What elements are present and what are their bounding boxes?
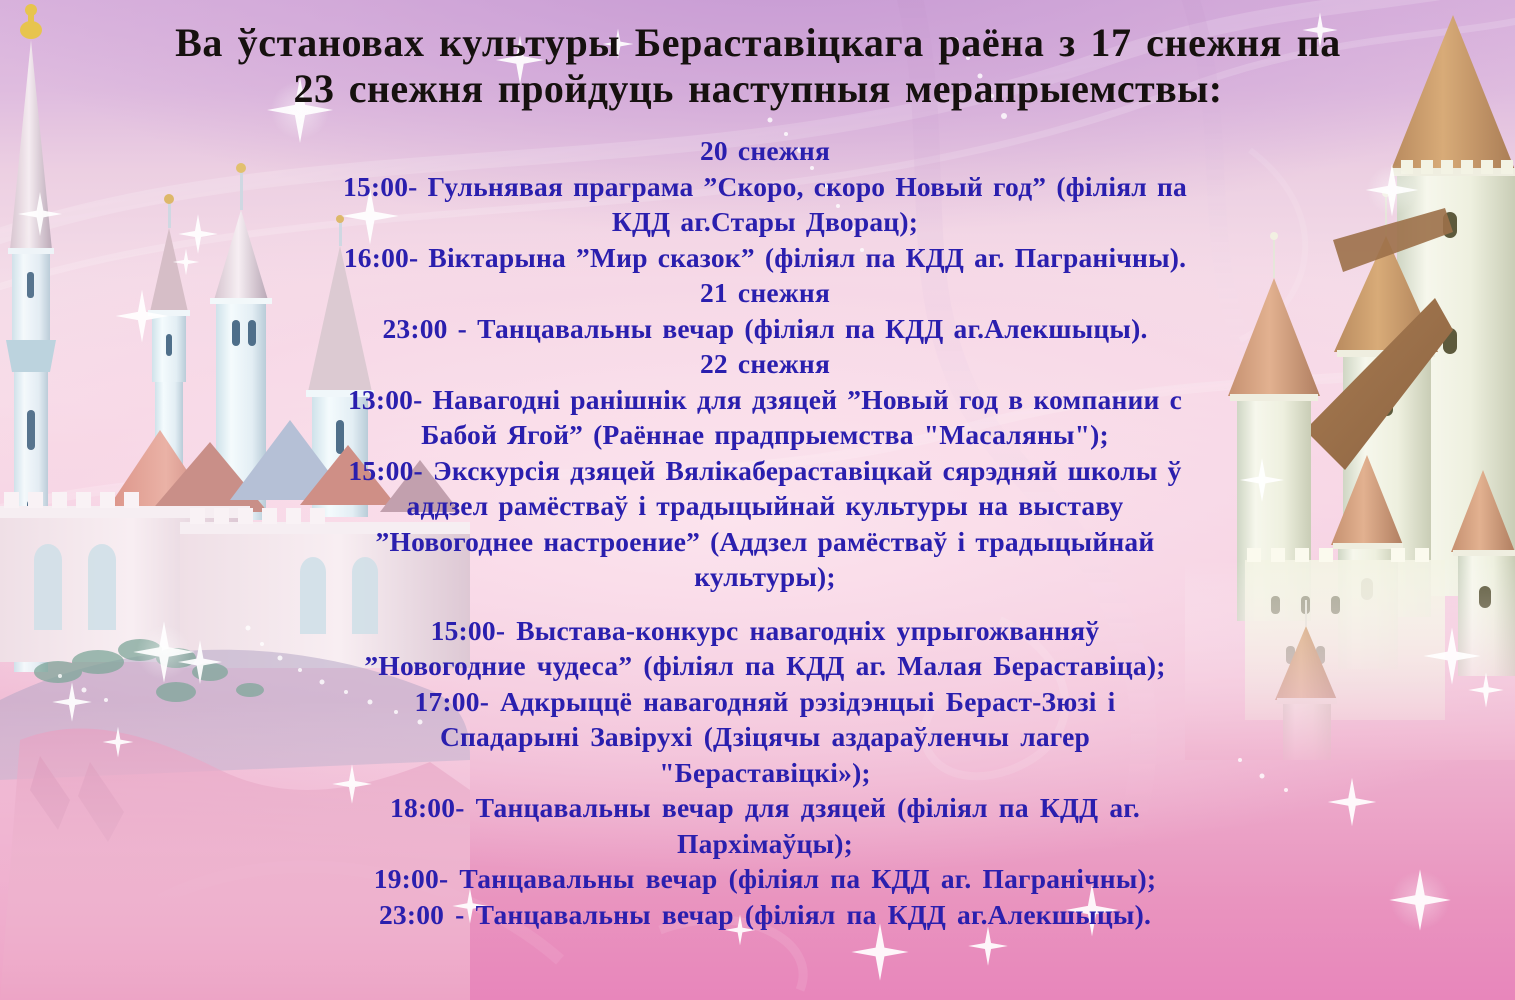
event-line: культуры); [150,559,1380,595]
title-line-2: 23 снежня пройдуць наступныя мерапрыемст… [28,66,1488,112]
schedule-date-22: 22 снежня [150,346,1380,382]
schedule-list: 20 снежня 15:00- Гульнявая праграма ”Ско… [150,133,1380,932]
event-line: Спадарыні Завірухі (Дзіцячы аздараўленчы… [150,719,1380,755]
event-line: Пархімаўцы); [150,826,1380,862]
event-line: 17:00- Адкрыццё навагодняй рэзідэнцыі Бе… [150,684,1380,720]
title-line-1: Ва ўстановах культуры Бераставіцкага раё… [28,20,1488,66]
event-line: "Бераставіцкі»); [150,755,1380,791]
schedule-date-20: 20 снежня [150,133,1380,169]
event-line: 15:00- Выстава-конкурс навагодніх упрыго… [150,613,1380,649]
schedule-date-21: 21 снежня [150,275,1380,311]
event-line: ”Новогодние чудеса” (філіял па КДД аг. М… [150,648,1380,684]
poster-canvas: Ва ўстановах культуры Бераставіцкага раё… [0,0,1515,1000]
event-line: ”Новогоднее настроение” (Аддзел рамёства… [150,524,1380,560]
event-line: 15:00- Гульнявая праграма ”Скоро, скоро … [150,169,1380,205]
event-line: 23:00 - Танцавальны вечар (філіял па КДД… [150,311,1380,347]
event-line: 23:00 - Танцавальны вечар (філіял па КДД… [150,897,1380,933]
poster-text-content: Ва ўстановах культуры Бераставіцкага раё… [0,0,1515,1000]
event-line: Бабой Ягой” (Раённае прадпрыемства "Маса… [150,417,1380,453]
event-line: КДД аг.Стары Дворац); [150,204,1380,240]
section-gap [150,595,1380,613]
event-line: 19:00- Танцавальны вечар (філіял па КДД … [150,861,1380,897]
event-line: 18:00- Танцавальны вечар для дзяцей (філ… [150,790,1380,826]
event-line: 16:00- Віктарына ”Мир сказок” (філіял па… [150,240,1380,276]
event-line: аддзел рамёстваў і традыцыйнай культуры … [150,488,1380,524]
page-title: Ва ўстановах культуры Бераставіцкага раё… [28,20,1488,113]
event-line: 15:00- Экскурсія дзяцей Вялікабераставіц… [150,453,1380,489]
event-line: 13:00- Навагодні ранішнік для дзяцей ”Но… [150,382,1380,418]
